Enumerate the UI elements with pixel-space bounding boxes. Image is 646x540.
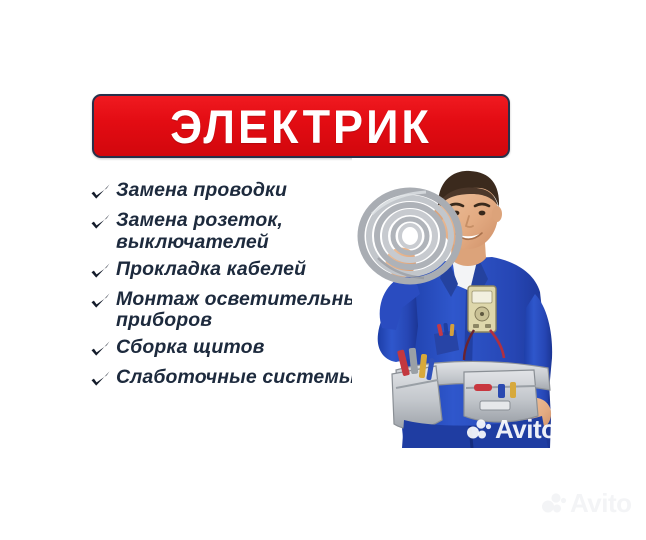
list-item-label: Сборка щитов [112, 337, 264, 359]
avito-watermark-text: Avito [570, 490, 632, 516]
check-icon [88, 260, 112, 284]
check-icon [88, 211, 112, 235]
avito-logo-icon [541, 492, 567, 514]
headline-banner: ЭЛЕКТРИК [92, 94, 510, 158]
check-icon [88, 368, 112, 392]
headline-text: ЭЛЕКТРИК [170, 102, 432, 150]
advertisement-image: ЭЛЕКТРИК Замена проводки Замена розеток,… [0, 0, 646, 540]
check-icon [88, 290, 112, 314]
avito-watermark-corner: Avito [541, 490, 632, 516]
list-item-label: Слаботочные системы [112, 367, 356, 389]
check-icon [88, 338, 112, 362]
list-item-label: Прокладка кабелей [112, 259, 306, 281]
electrician-photo [352, 158, 567, 448]
list-item-label: Замена проводки [112, 180, 287, 202]
check-icon [88, 181, 112, 205]
